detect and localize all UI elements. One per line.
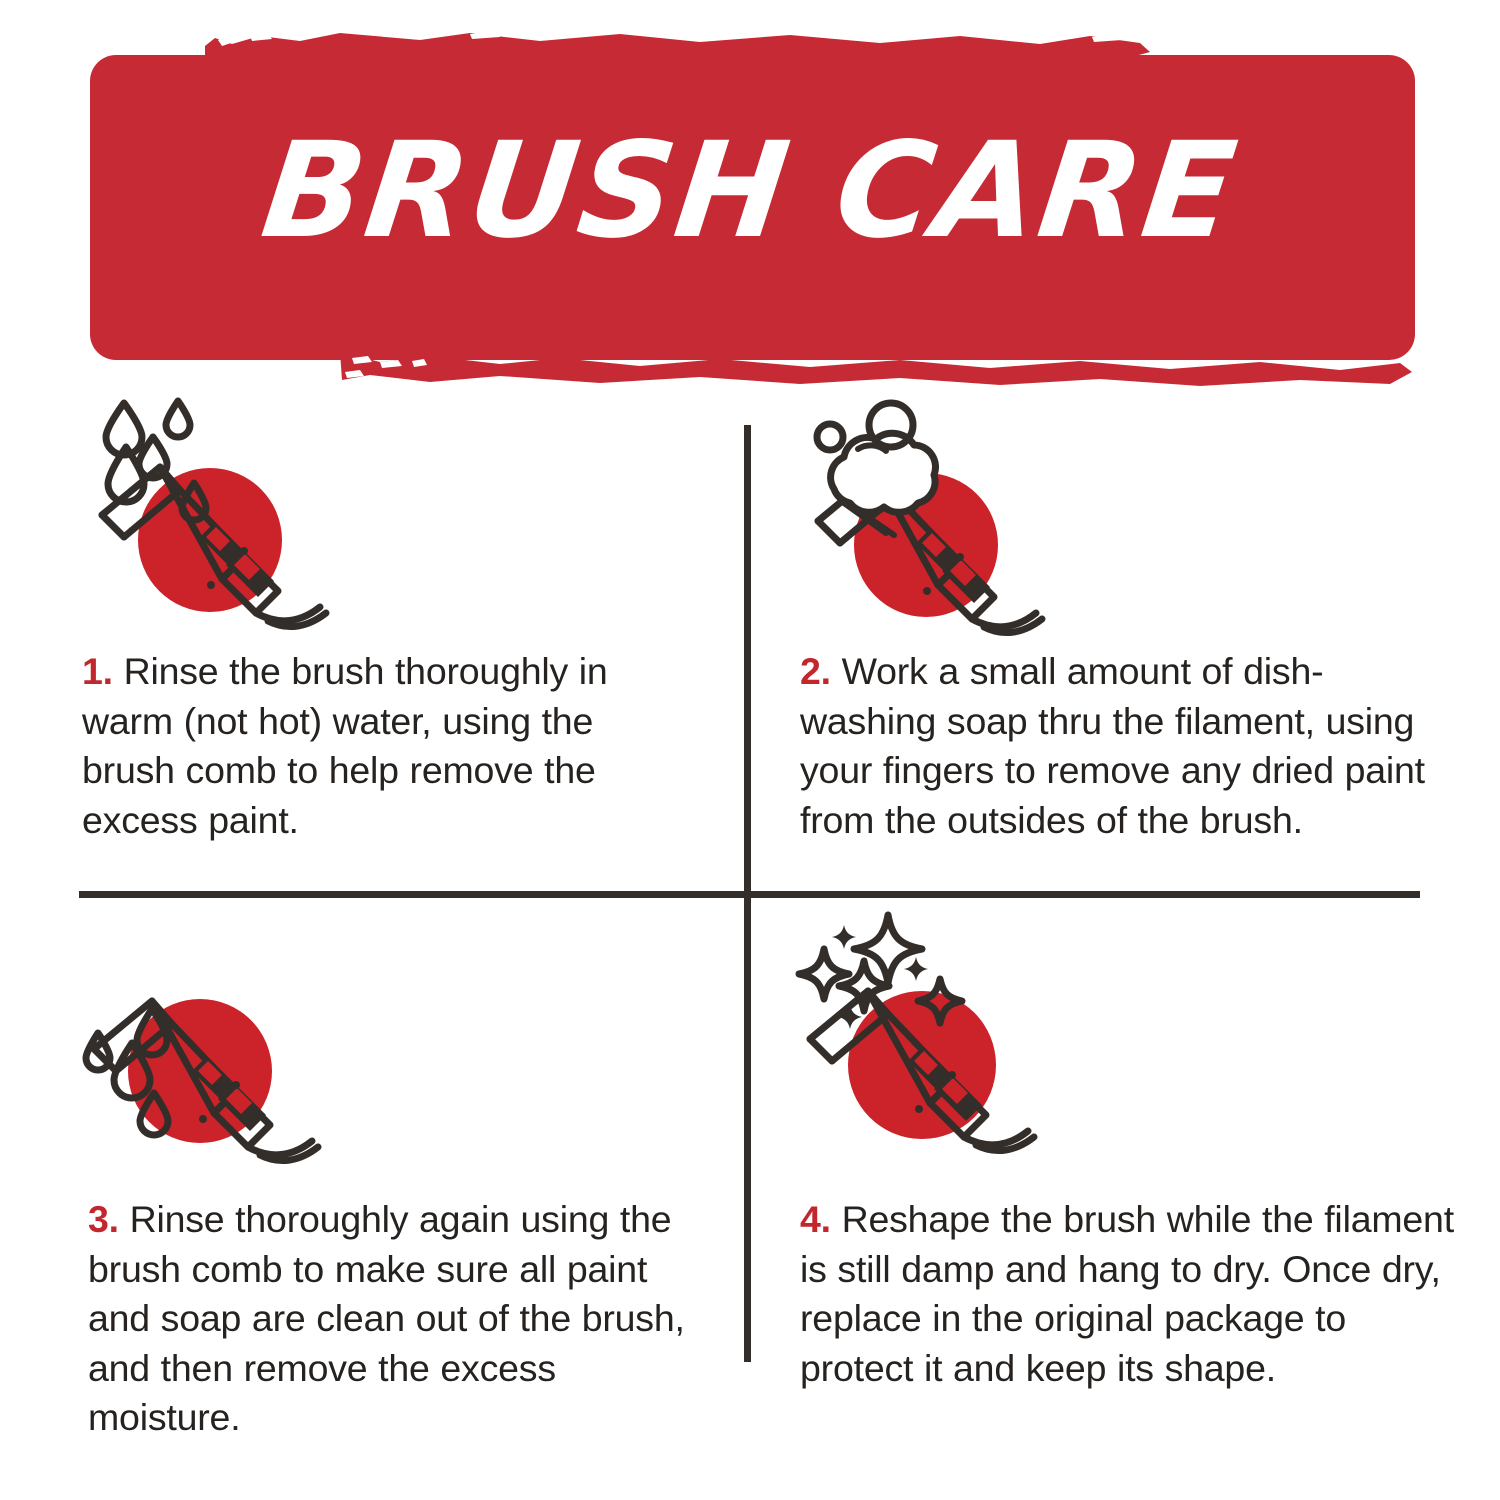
brush-with-sparkles-icon: [788, 905, 1058, 1175]
step-1-number: 1.: [82, 650, 124, 692]
divider-vertical: [744, 425, 751, 1362]
brush-with-rinse-drops-icon: [82, 953, 342, 1183]
page-title: BRUSH CARE: [0, 125, 1500, 257]
step-1-icon-holder: [60, 385, 740, 645]
step-3-icon-holder: [60, 905, 740, 1165]
step-2-text: 2. Work a small amount of dish-washing s…: [800, 647, 1450, 845]
step-4-icon-holder: [780, 905, 1470, 1165]
step-4-text: 4. Reshape the brush while the filament …: [800, 1195, 1460, 1393]
step-3-body: Rinse thoroughly again using the brush c…: [88, 1198, 685, 1438]
step-card-3: 3. Rinse thoroughly again using the brus…: [60, 905, 740, 1375]
step-4-number: 4.: [800, 1198, 842, 1240]
brush-with-soap-suds-icon: [794, 393, 1054, 643]
step-card-1: 1. Rinse the brush thoroughly in warm (n…: [60, 385, 740, 885]
header-banner: BRUSH CARE: [0, 0, 1500, 400]
step-2-body: Work a small amount of dish-washing soap…: [800, 650, 1425, 841]
step-1-text: 1. Rinse the brush thoroughly in warm (n…: [82, 647, 682, 845]
step-1-body: Rinse the brush thoroughly in warm (not …: [82, 650, 608, 841]
step-card-4: 4. Reshape the brush while the filament …: [780, 905, 1470, 1375]
step-card-2: 2. Work a small amount of dish-washing s…: [780, 385, 1470, 885]
step-4-body: Reshape the brush while the filament is …: [800, 1198, 1454, 1389]
step-2-number: 2.: [800, 650, 842, 692]
step-3-text: 3. Rinse thoroughly again using the brus…: [88, 1195, 718, 1443]
brush-with-water-drops-icon: [82, 385, 342, 635]
step-3-number: 3.: [88, 1198, 130, 1240]
step-2-icon-holder: [780, 385, 1470, 645]
